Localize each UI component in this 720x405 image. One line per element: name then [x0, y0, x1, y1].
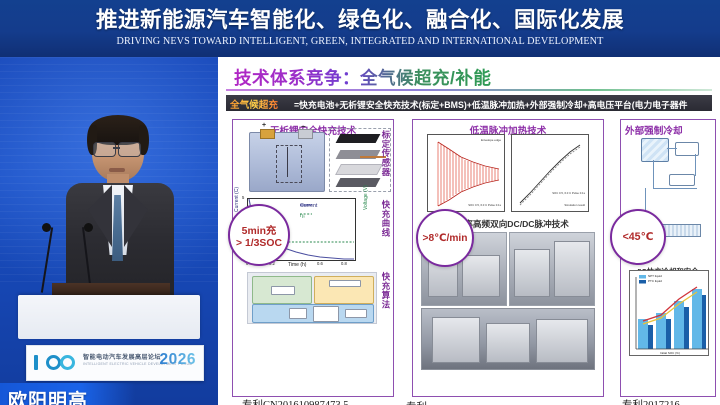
- callout-1-line-1: 5min充: [242, 222, 277, 237]
- microphone-head-right: [84, 223, 93, 232]
- lab-equipment-rack-2: [514, 249, 550, 297]
- axis-label-time: Time (h): [288, 262, 306, 268]
- side-label-sensor-calibration: 标定传感器: [382, 130, 390, 177]
- forum-logo-mark-icon: [33, 354, 79, 372]
- coolant-pipe-4: [695, 154, 696, 176]
- formula-bar: 全气候超充 =快充电池+无析锂安全快充技术(标定+BMS)+低温脉冲加热+外部强…: [226, 95, 712, 111]
- forum-logo-band: 智能电动汽车发展高层论坛 INTELLIGENT ELECTRIC VEHICL…: [26, 345, 204, 381]
- column-c-header: 外部强制冷却: [625, 123, 719, 137]
- bar-chart-plot: [630, 271, 710, 357]
- callout-3-line-1: <45℃: [623, 231, 654, 243]
- dcdc-converter-photo: [421, 308, 595, 370]
- algorithm-block-cell-model: [314, 276, 374, 304]
- pulse-envelope-plot: [429, 136, 505, 212]
- patent-label-column-a: 专利CN201610987473.5: [242, 397, 348, 405]
- heat-exchanger-box: [669, 174, 695, 186]
- logo-digit-one: [34, 355, 38, 370]
- header-title-cn: 推进新能源汽车智能化、绿色化、融合化、国际化发展: [0, 3, 720, 34]
- layer-separator: [335, 164, 383, 175]
- coolant-pipe-3: [653, 188, 697, 189]
- logo-ring-2: [60, 355, 75, 370]
- lab-equipment-bench-2: [554, 241, 590, 297]
- layer-anode: [336, 178, 381, 187]
- xtick-08: 0.8: [341, 261, 347, 266]
- callout-max-temperature: <45℃: [610, 209, 666, 265]
- forum-logo-text-cn: 智能电动汽车发展高层论坛: [83, 352, 161, 361]
- speaker-figure: [64, 119, 176, 304]
- axis-label-current: Current (C): [234, 187, 240, 212]
- cooling-temperature-bar-chart: NPT liquid PTC liquid Initial SOC (%): [629, 270, 709, 356]
- coolant-pipe-1: [667, 148, 677, 149]
- legend-eta: η₀: [300, 213, 305, 219]
- axis-label-voltage: Voltage (V): [363, 185, 369, 210]
- eyeglasses-bridge: [113, 147, 120, 149]
- speaker-nameplate: 欧阳明高: [0, 383, 135, 405]
- legend-current: Current: [300, 203, 317, 209]
- pulse-temperature-chart: SOC 0.5, 6.0 C Pulse 0.1s Simulation res…: [511, 134, 589, 212]
- forum-logo-year: 2026: [160, 351, 196, 369]
- converter-module-3: [536, 319, 588, 363]
- event-header-banner: 推进新能源汽车智能化、绿色化、融合化、国际化发展 DRIVING NEVS TO…: [0, 0, 720, 57]
- algorithm-block-controller: [252, 304, 374, 323]
- microphone-head-left: [42, 223, 51, 232]
- logo-ring-1: [46, 355, 61, 370]
- temperature-rise-curve: [512, 135, 588, 211]
- eyeglasses-left-lens: [93, 142, 116, 157]
- battery-terminal-positive: [260, 129, 275, 139]
- battery-sensor-probe: [287, 147, 288, 177]
- formula-rest: =快充电池+无析锂安全快充技术(标定+BMS)+低温脉冲加热+外部强制冷却+高电…: [294, 98, 687, 111]
- battery-terminal-negative: [298, 129, 313, 139]
- battery-cell-diagram: + −: [249, 132, 325, 192]
- slide-title: 技术体系竞争：全气候超充/补能: [234, 65, 491, 90]
- ytick-5: 5: [242, 195, 244, 200]
- screenshot-root: 推进新能源汽车智能化、绿色化、融合化、国际化发展 DRIVING NEVS TO…: [0, 0, 720, 405]
- block-node-5: [345, 309, 367, 318]
- block-node-3: [289, 308, 307, 319]
- pulse-chart-note: SOC 0.5, 6.0 C Pulse 0.1s: [468, 203, 501, 207]
- temp-chart-legend: Simulation result: [564, 203, 585, 207]
- side-label-charge-algorithm: 快充算法: [382, 272, 390, 310]
- bar-legend-ptc: PTC liquid: [648, 279, 662, 283]
- block-node-1: [271, 286, 295, 295]
- eyeglasses-right-lens: [118, 142, 141, 157]
- side-label-charge-curve: 快充曲线: [382, 200, 390, 238]
- formula-highlight: 全气候超充: [230, 97, 278, 111]
- callout-1-line-2: > 1/3SOC: [236, 238, 282, 249]
- lab-equipment-bench-1: [462, 255, 500, 297]
- algorithm-block-estimator: [252, 276, 312, 304]
- callout-charge-speed: 5min充 > 1/3SOC: [228, 204, 290, 266]
- converter-module-2: [486, 323, 530, 363]
- header-title-en: DRIVING NEVS TOWARD INTELLIGENT, GREEN, …: [0, 36, 720, 47]
- battery-probe-region: [276, 145, 302, 183]
- callout-heating-rate: >8℃/min: [416, 209, 474, 267]
- block-node-2: [329, 280, 361, 287]
- bar-axis-label-x: Initial SOC (%): [660, 351, 680, 355]
- xtick-06: 0.6: [317, 261, 323, 266]
- battery-positive-sign: +: [262, 122, 266, 129]
- pulse-envelope-chart: Envelope edge SOC 0.5, 6.0 C Pulse 0.1s: [427, 134, 505, 212]
- speaker-video-pane: 智能电动汽车发展高层论坛 INTELLIGENT ELECTRIC VEHICL…: [0, 57, 218, 405]
- patent-label-column-c: 专利2017216: [622, 397, 680, 405]
- temp-chart-note: SOC 0.5, 6.0 C Pulse 0.1s: [552, 191, 585, 195]
- title-divider: [226, 89, 712, 91]
- pulse-chart-legend: Envelope edge: [481, 138, 501, 142]
- coolant-reservoir-icon: [641, 138, 669, 162]
- speaker-name: 欧阳明高: [8, 386, 88, 405]
- dcdc-lab-photo-2: [509, 232, 595, 306]
- podium: [18, 295, 200, 339]
- callout-2-line-1: >8℃/min: [423, 233, 468, 244]
- layer-cathode: [336, 134, 381, 143]
- charge-control-algorithm-diagram: [247, 272, 377, 324]
- presentation-slide: 技术体系竞争：全气候超充/补能 全气候超充 =快充电池+无析锂安全快充技术(标定…: [218, 57, 720, 405]
- block-node-4: [313, 306, 339, 322]
- bar-legend-npt: NPT liquid: [648, 274, 662, 278]
- converter-module-1: [432, 317, 480, 363]
- patent-label-column-b: 专利CN112820963B、CN110556608B、CN110470992B: [406, 399, 586, 405]
- pulse-waveform: [429, 136, 505, 212]
- coolant-pipe-2: [653, 160, 654, 188]
- speaker-mouth: [109, 168, 125, 172]
